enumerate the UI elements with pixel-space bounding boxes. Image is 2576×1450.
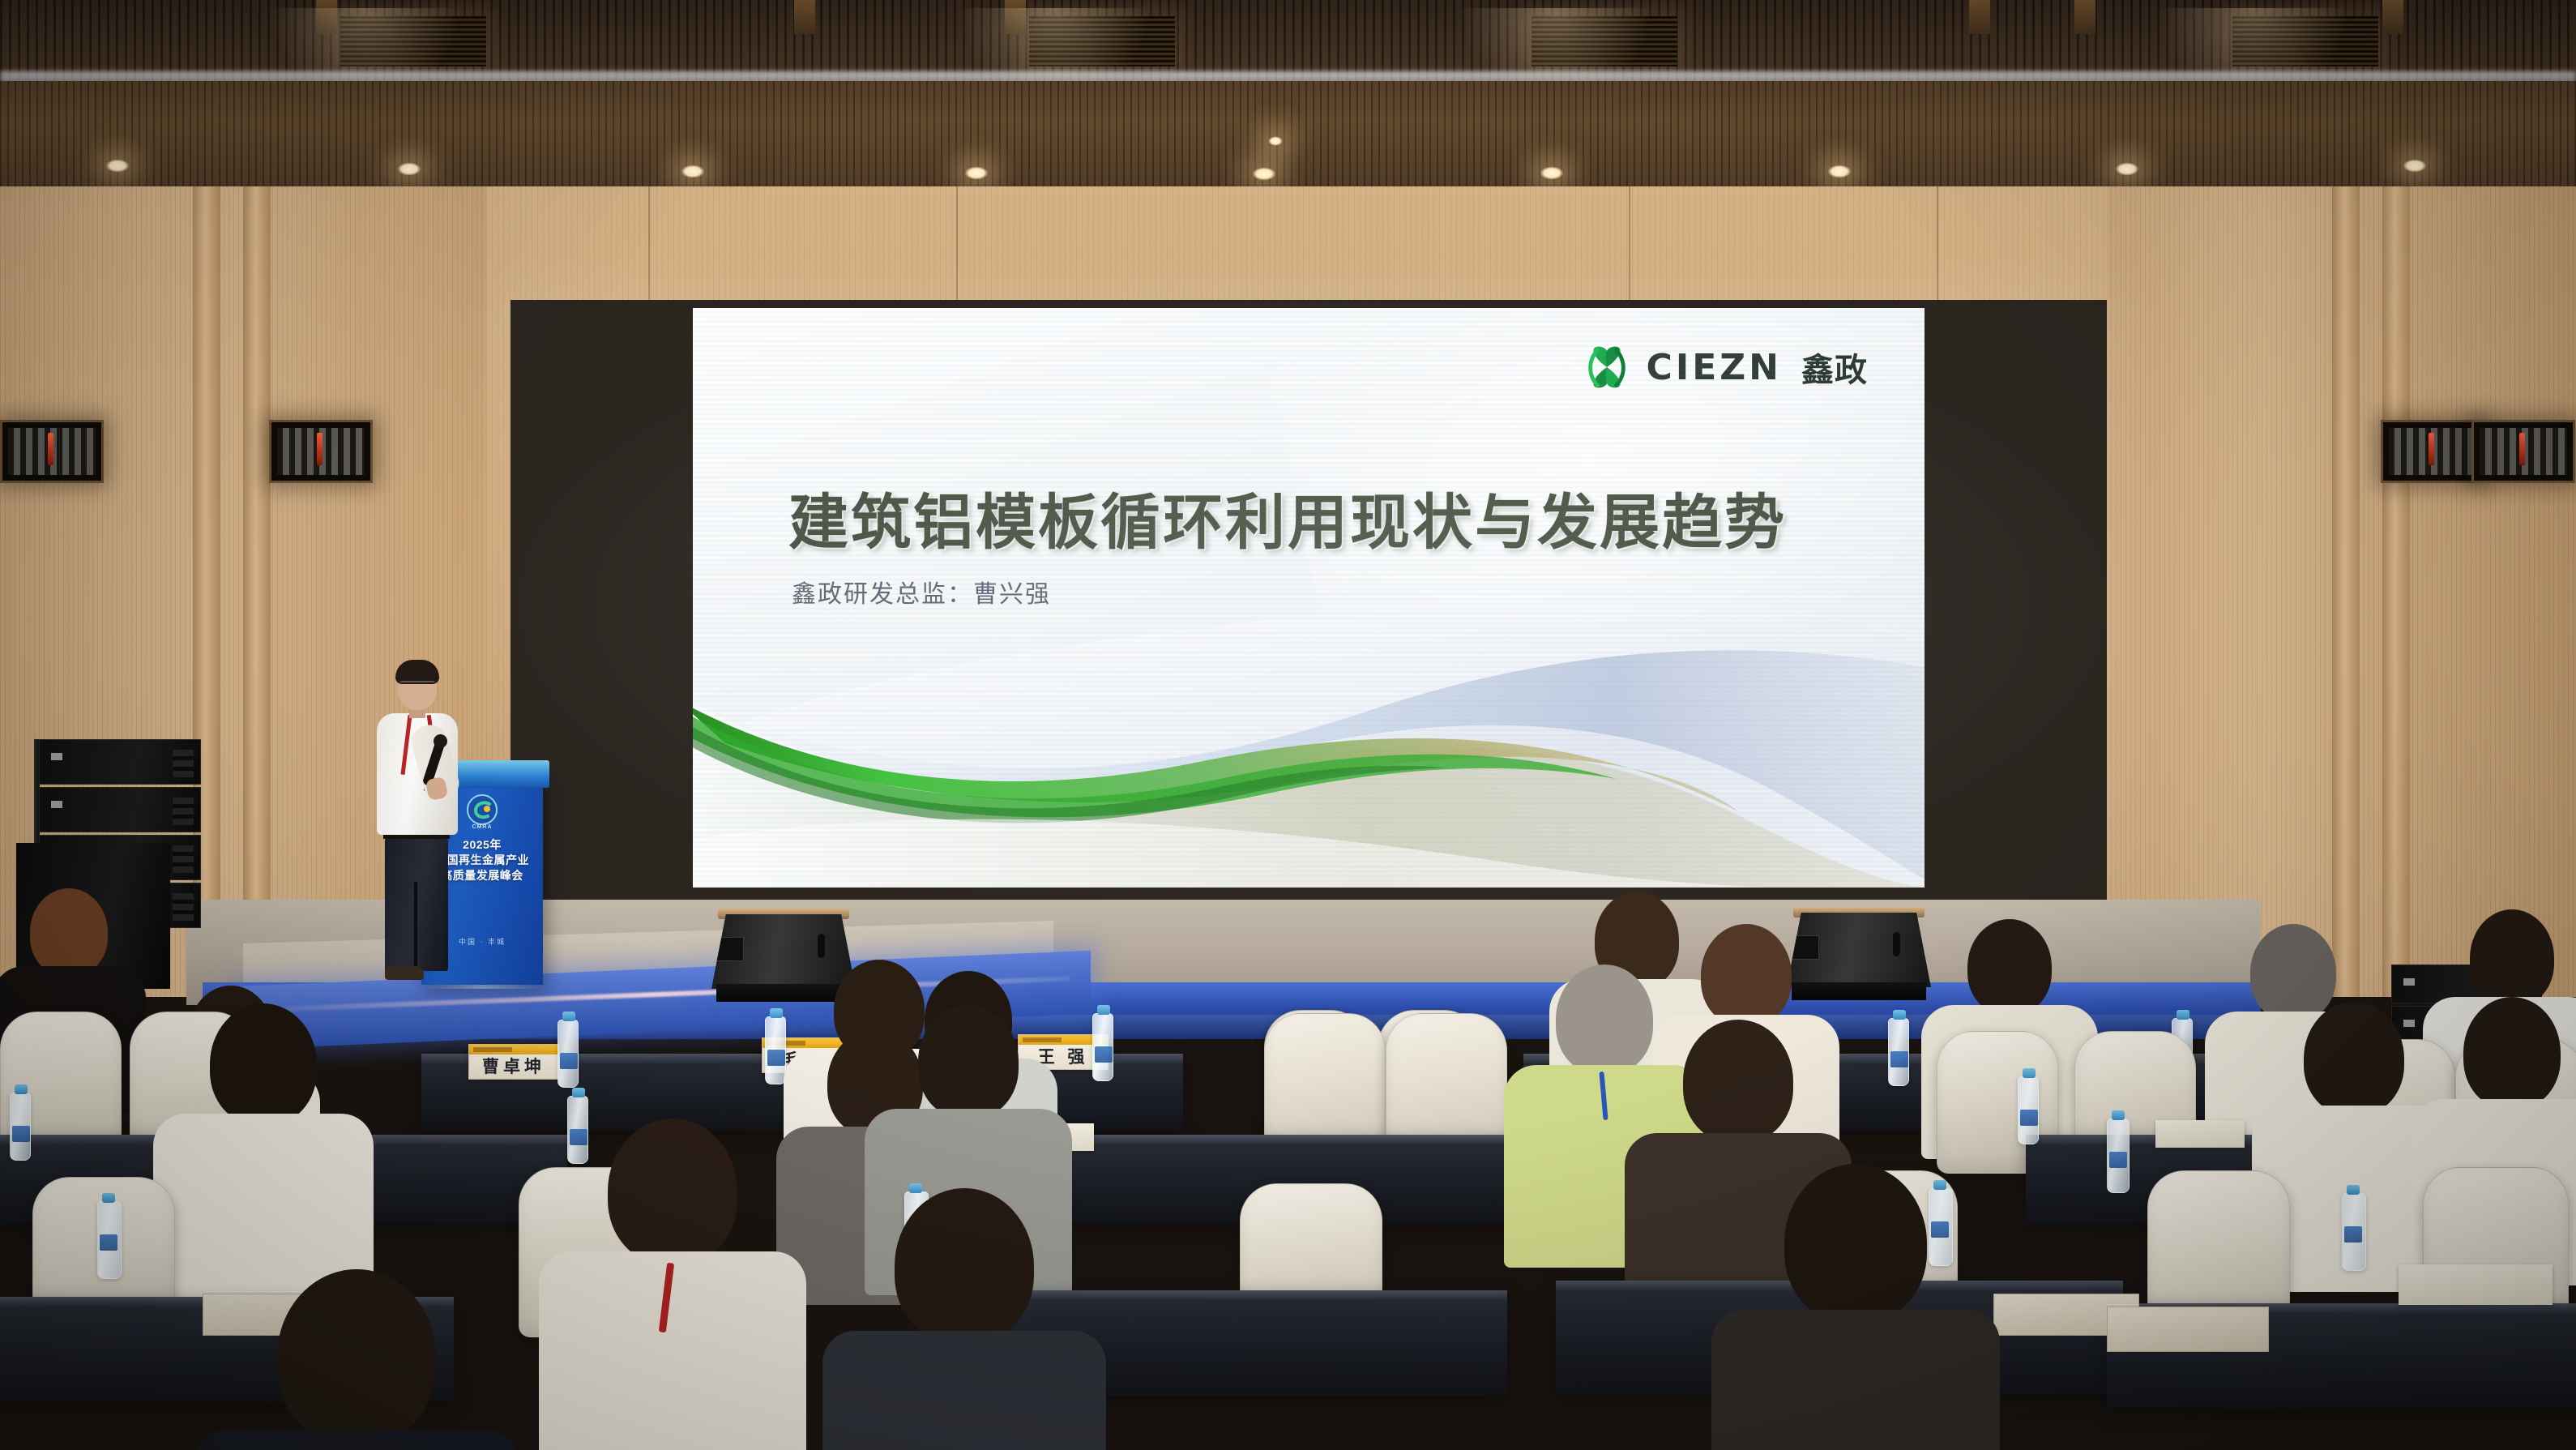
line-array-module: [39, 739, 201, 785]
speaker-leg-seam: [414, 882, 417, 971]
speaker-shoe: [385, 966, 424, 980]
ceiling-downlight: [1827, 165, 1852, 178]
wall-right-wood-panel: [2057, 186, 2576, 997]
audience-person: [211, 1269, 502, 1450]
water-bottle: [97, 1201, 122, 1279]
ceiling-beam: [2074, 0, 2095, 34]
person-head: [210, 1003, 317, 1125]
person-head: [1784, 1164, 1927, 1323]
ceiling-downlight: [1252, 167, 1276, 181]
speaker-person: [369, 663, 466, 987]
slide-wave-graphic: [693, 620, 1925, 888]
ceiling-beam: [2382, 0, 2403, 34]
speaker-brand-logo-icon: [2403, 978, 2415, 986]
person-head: [2304, 1002, 2404, 1115]
person-torso: [194, 1430, 519, 1450]
ceiling-grille-panel: [2232, 16, 2378, 66]
water-bottle: [1092, 1013, 1113, 1081]
sconce-red-accent: [2429, 433, 2434, 465]
cmra-abbr-text: CMRA: [472, 824, 493, 830]
water-bottle: [557, 1020, 579, 1088]
monitor-handle-slot: [1893, 932, 1900, 956]
person-head: [1683, 1020, 1793, 1143]
logo-latin-text: CIEZN: [1647, 347, 1782, 388]
person-torso: [539, 1251, 806, 1450]
ceiling-downlight: [2403, 159, 2427, 173]
wall-pillar: [2332, 186, 2360, 997]
person-head: [2470, 909, 2554, 1007]
ceiling-downlight: [964, 166, 989, 180]
ceiling-downlight: [105, 159, 130, 173]
sconce-red-accent: [48, 433, 53, 465]
monitor-handle-slot: [818, 934, 825, 958]
person-torso: [1711, 1310, 2000, 1450]
wall-pillar: [243, 186, 271, 997]
nameplate-header-bar: [469, 1045, 558, 1054]
cmra-logo-icon: [466, 793, 498, 826]
ceiling-downlight: [2115, 162, 2139, 176]
person-head: [918, 1005, 1019, 1119]
ceiling-downlight: [1540, 166, 1564, 180]
water-bottle: [2018, 1076, 2039, 1144]
document-folder: [2107, 1307, 2269, 1352]
wall-sconce-panel: [2471, 420, 2575, 483]
document-paper: [2155, 1120, 2245, 1148]
person-head: [30, 888, 108, 976]
water-bottle: [2107, 1119, 2130, 1193]
ceiling-grille-panel: [340, 16, 486, 66]
person-head: [1701, 924, 1792, 1026]
person-head: [608, 1119, 737, 1264]
person-head: [277, 1269, 436, 1444]
slide-logo: CIEZN 鑫政: [1582, 342, 1868, 392]
audience-person: [843, 1188, 1086, 1450]
person-torso: [822, 1331, 1106, 1450]
ceiling-downlight: [681, 165, 705, 178]
document-paper: [2399, 1264, 2553, 1305]
ceiling-grille-panel: [1029, 16, 1175, 66]
water-bottle: [1888, 1018, 1909, 1086]
wall-sconce-panel: [2381, 420, 2484, 483]
ciezn-logo-icon: [1582, 342, 1632, 392]
water-bottle: [2342, 1193, 2366, 1271]
wall-sconce-panel: [0, 420, 104, 483]
ceiling-grille-panel: [1532, 16, 1677, 66]
person-head: [895, 1188, 1034, 1344]
ceiling-beam: [316, 0, 337, 34]
water-bottle: [765, 1016, 786, 1084]
audience-person: [559, 1119, 786, 1450]
audience-person: [1734, 1164, 1977, 1450]
ceiling-beam: [1969, 0, 1990, 34]
ceiling-beam: [794, 0, 815, 34]
speaker-brand-logo-icon: [51, 753, 62, 760]
speaker-brand-logo-icon: [51, 801, 62, 808]
ceiling-downlight: [397, 162, 421, 176]
wall-sconce-panel: [269, 420, 373, 483]
water-bottle: [10, 1093, 31, 1161]
led-video-wall[interactable]: CIEZN 鑫政 建筑铝模板循环利用现状与发展趋势 鑫政研发总监：曹兴强: [511, 300, 2107, 900]
nameplate: 曹卓坤: [468, 1044, 559, 1080]
wall-pillar: [2382, 186, 2410, 997]
ceiling-beam: [1005, 0, 1026, 34]
presentation-slide: CIEZN 鑫政 建筑铝模板循环利用现状与发展趋势 鑫政研发总监：曹兴强: [693, 308, 1925, 888]
conference-hall-photo: CIEZN 鑫政 建筑铝模板循环利用现状与发展趋势 鑫政研发总监：曹兴强 CMR…: [0, 0, 2576, 1450]
logo-chinese-text: 鑫政: [1801, 344, 1868, 391]
slide-title: 建筑铝模板循环利用现状与发展趋势: [788, 474, 1787, 561]
sconce-red-accent: [317, 433, 323, 465]
microphone-head-icon: [434, 734, 447, 748]
nameplate-name: 曹卓坤: [469, 1055, 558, 1080]
slide-subtitle: 鑫政研发总监：曹兴强: [792, 574, 1051, 610]
ceiling-smoke-detector: [1268, 136, 1283, 146]
speaker-glasses-icon: [399, 681, 435, 689]
audience-person: [170, 1003, 357, 1271]
person-head: [2463, 997, 2561, 1109]
line-array-module: [39, 787, 201, 832]
person-head: [1967, 919, 2052, 1015]
person-head: [1556, 965, 1653, 1075]
sconce-red-accent: [2519, 433, 2525, 465]
